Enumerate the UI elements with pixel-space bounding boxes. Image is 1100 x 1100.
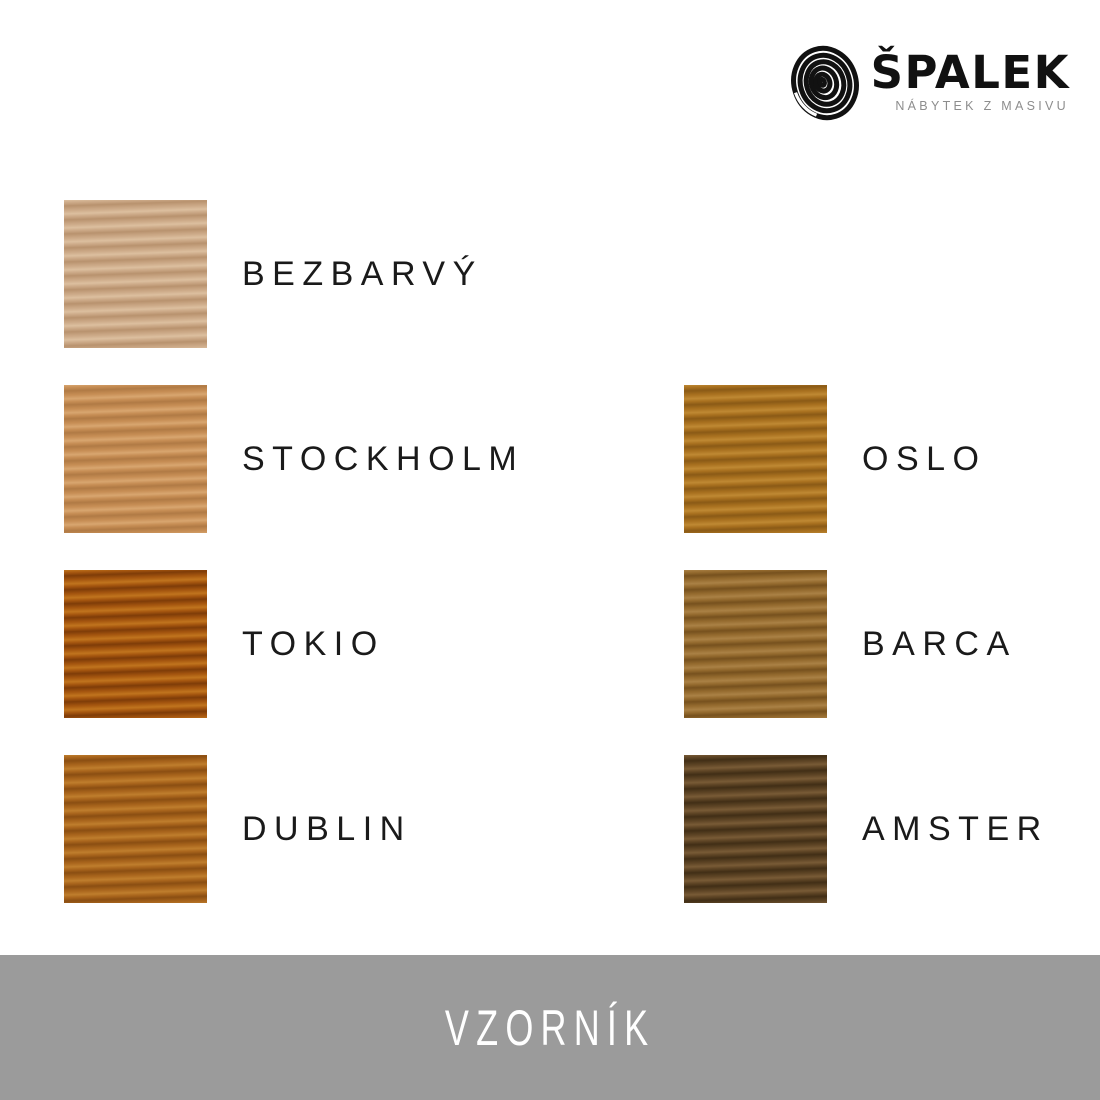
- swatch-item-oslo[interactable]: OSLO: [684, 385, 986, 533]
- swatch-label: BARCA: [862, 625, 1017, 664]
- wood-swatch: [64, 570, 207, 718]
- wood-swatch: [64, 200, 207, 348]
- wood-finish-swatch-grid: BEZBARVÝ STOCKHOLM OSLO TOKIO: [0, 200, 1100, 940]
- swatch-label: OSLO: [862, 440, 986, 479]
- swatch-row: BEZBARVÝ: [0, 200, 1100, 385]
- wood-swatch: [684, 385, 827, 533]
- brand-name: ŠPALEK: [871, 50, 1070, 96]
- swatch-label: DUBLIN: [242, 810, 412, 849]
- wood-grain-texture: [684, 385, 827, 533]
- footer-title: VZORNÍK: [445, 999, 655, 1057]
- swatch-label: BEZBARVÝ: [242, 255, 483, 294]
- swatch-item-tokio[interactable]: TOKIO: [64, 570, 385, 718]
- wood-swatch: [684, 570, 827, 718]
- tree-ring-spiral-icon: [787, 44, 863, 122]
- swatch-label: AMSTER: [862, 810, 1049, 849]
- wood-grain-texture: [64, 755, 207, 903]
- swatch-item-bezbarvy[interactable]: BEZBARVÝ: [64, 200, 483, 348]
- swatch-item-barca[interactable]: BARCA: [684, 570, 1017, 718]
- swatch-row: STOCKHOLM OSLO: [0, 385, 1100, 570]
- swatch-item-amster[interactable]: AMSTER: [684, 755, 1049, 903]
- wood-grain-texture: [64, 200, 207, 348]
- wood-swatch: [64, 755, 207, 903]
- swatch-row: TOKIO BARCA: [0, 570, 1100, 755]
- wood-grain-texture: [64, 570, 207, 718]
- swatch-item-dublin[interactable]: DUBLIN: [64, 755, 412, 903]
- swatch-label: STOCKHOLM: [242, 440, 524, 479]
- brand-tagline: NÁBYTEK Z MASIVU: [871, 99, 1070, 113]
- swatch-item-stockholm[interactable]: STOCKHOLM: [64, 385, 524, 533]
- wood-swatch: [684, 755, 827, 903]
- footer-banner: VZORNÍK: [0, 955, 1100, 1100]
- wood-grain-texture: [684, 755, 827, 903]
- swatch-row: DUBLIN AMSTER: [0, 755, 1100, 940]
- brand-logo: ŠPALEK NÁBYTEK Z MASIVU: [787, 44, 1070, 122]
- wood-grain-texture: [684, 570, 827, 718]
- wood-grain-texture: [64, 385, 207, 533]
- swatch-label: TOKIO: [242, 625, 385, 664]
- wood-swatch: [64, 385, 207, 533]
